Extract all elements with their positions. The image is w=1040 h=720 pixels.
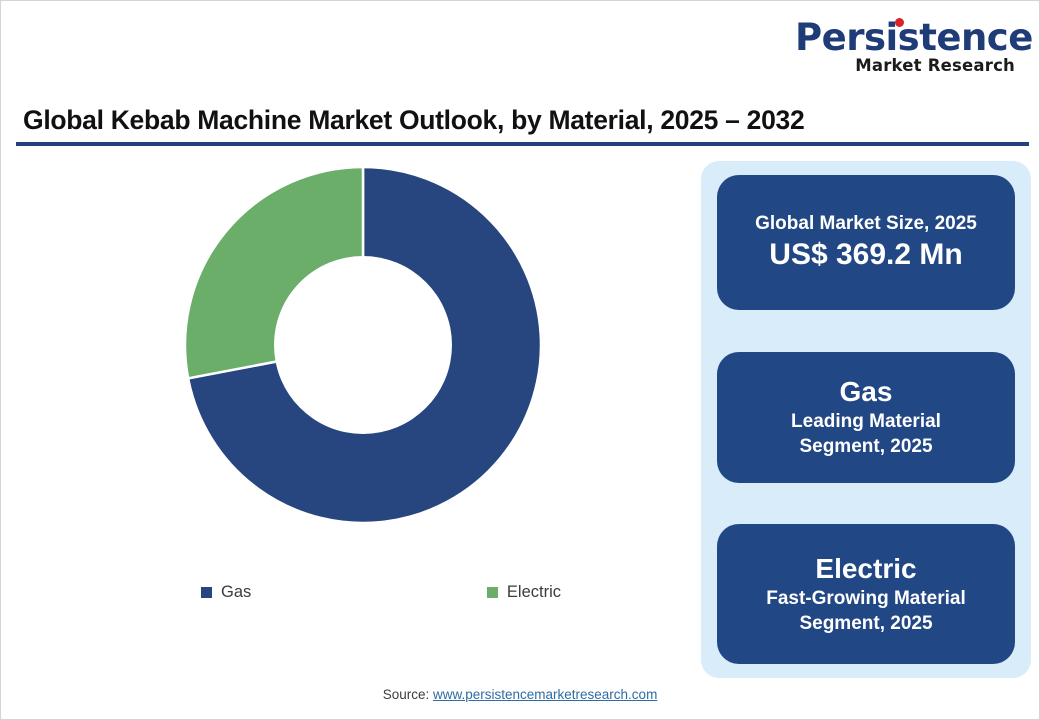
legend-swatch-electric-icon [487, 587, 498, 598]
donut-chart-svg [185, 167, 541, 523]
chart-legend: Gas Electric [201, 583, 561, 602]
source-link[interactable]: www.persistencemarketresearch.com [433, 687, 657, 702]
market-size-value: US$ 369.2 Mn [769, 237, 962, 273]
card-fastest-growing-segment[interactable]: Electric Fast-Growing Material Segment, … [717, 524, 1015, 664]
legend-swatch-gas-icon [201, 587, 212, 598]
legend-label-gas: Gas [221, 583, 251, 602]
market-size-caption: Global Market Size, 2025 [755, 212, 977, 235]
infographic-page: Persistence Market Research Global Kebab… [0, 0, 1040, 720]
legend-label-electric: Electric [507, 583, 561, 602]
leading-segment-name: Gas [840, 375, 893, 409]
leading-segment-sub-line1: Leading Material [791, 410, 941, 434]
card-market-size[interactable]: Global Market Size, 2025 US$ 369.2 Mn [717, 175, 1015, 310]
legend-item-gas[interactable]: Gas [201, 583, 251, 602]
title-divider [16, 142, 1029, 146]
highlights-panel: Global Market Size, 2025 US$ 369.2 Mn Ga… [701, 161, 1031, 678]
fastest-segment-sub-line1: Fast-Growing Material [766, 587, 966, 611]
source-footer: Source: www.persistencemarketresearch.co… [1, 687, 1039, 702]
chart-area: Gas Electric [13, 153, 693, 663]
donut-center-hole [274, 256, 452, 434]
logo-tagline: Market Research [795, 58, 1015, 75]
company-logo: Persistence Market Research [795, 19, 1015, 75]
leading-segment-sub-line2: Segment, 2025 [799, 435, 932, 459]
page-title: Global Kebab Machine Market Outlook, by … [23, 105, 804, 136]
logo-accent-dot-icon [895, 18, 904, 27]
legend-item-electric[interactable]: Electric [487, 583, 561, 602]
donut-chart [185, 167, 541, 523]
fastest-segment-name: Electric [815, 552, 916, 586]
logo-wordmark: Persistence [795, 19, 1033, 56]
source-label: Source: [383, 687, 430, 702]
fastest-segment-sub-line2: Segment, 2025 [799, 612, 932, 636]
card-leading-segment[interactable]: Gas Leading Material Segment, 2025 [717, 352, 1015, 483]
